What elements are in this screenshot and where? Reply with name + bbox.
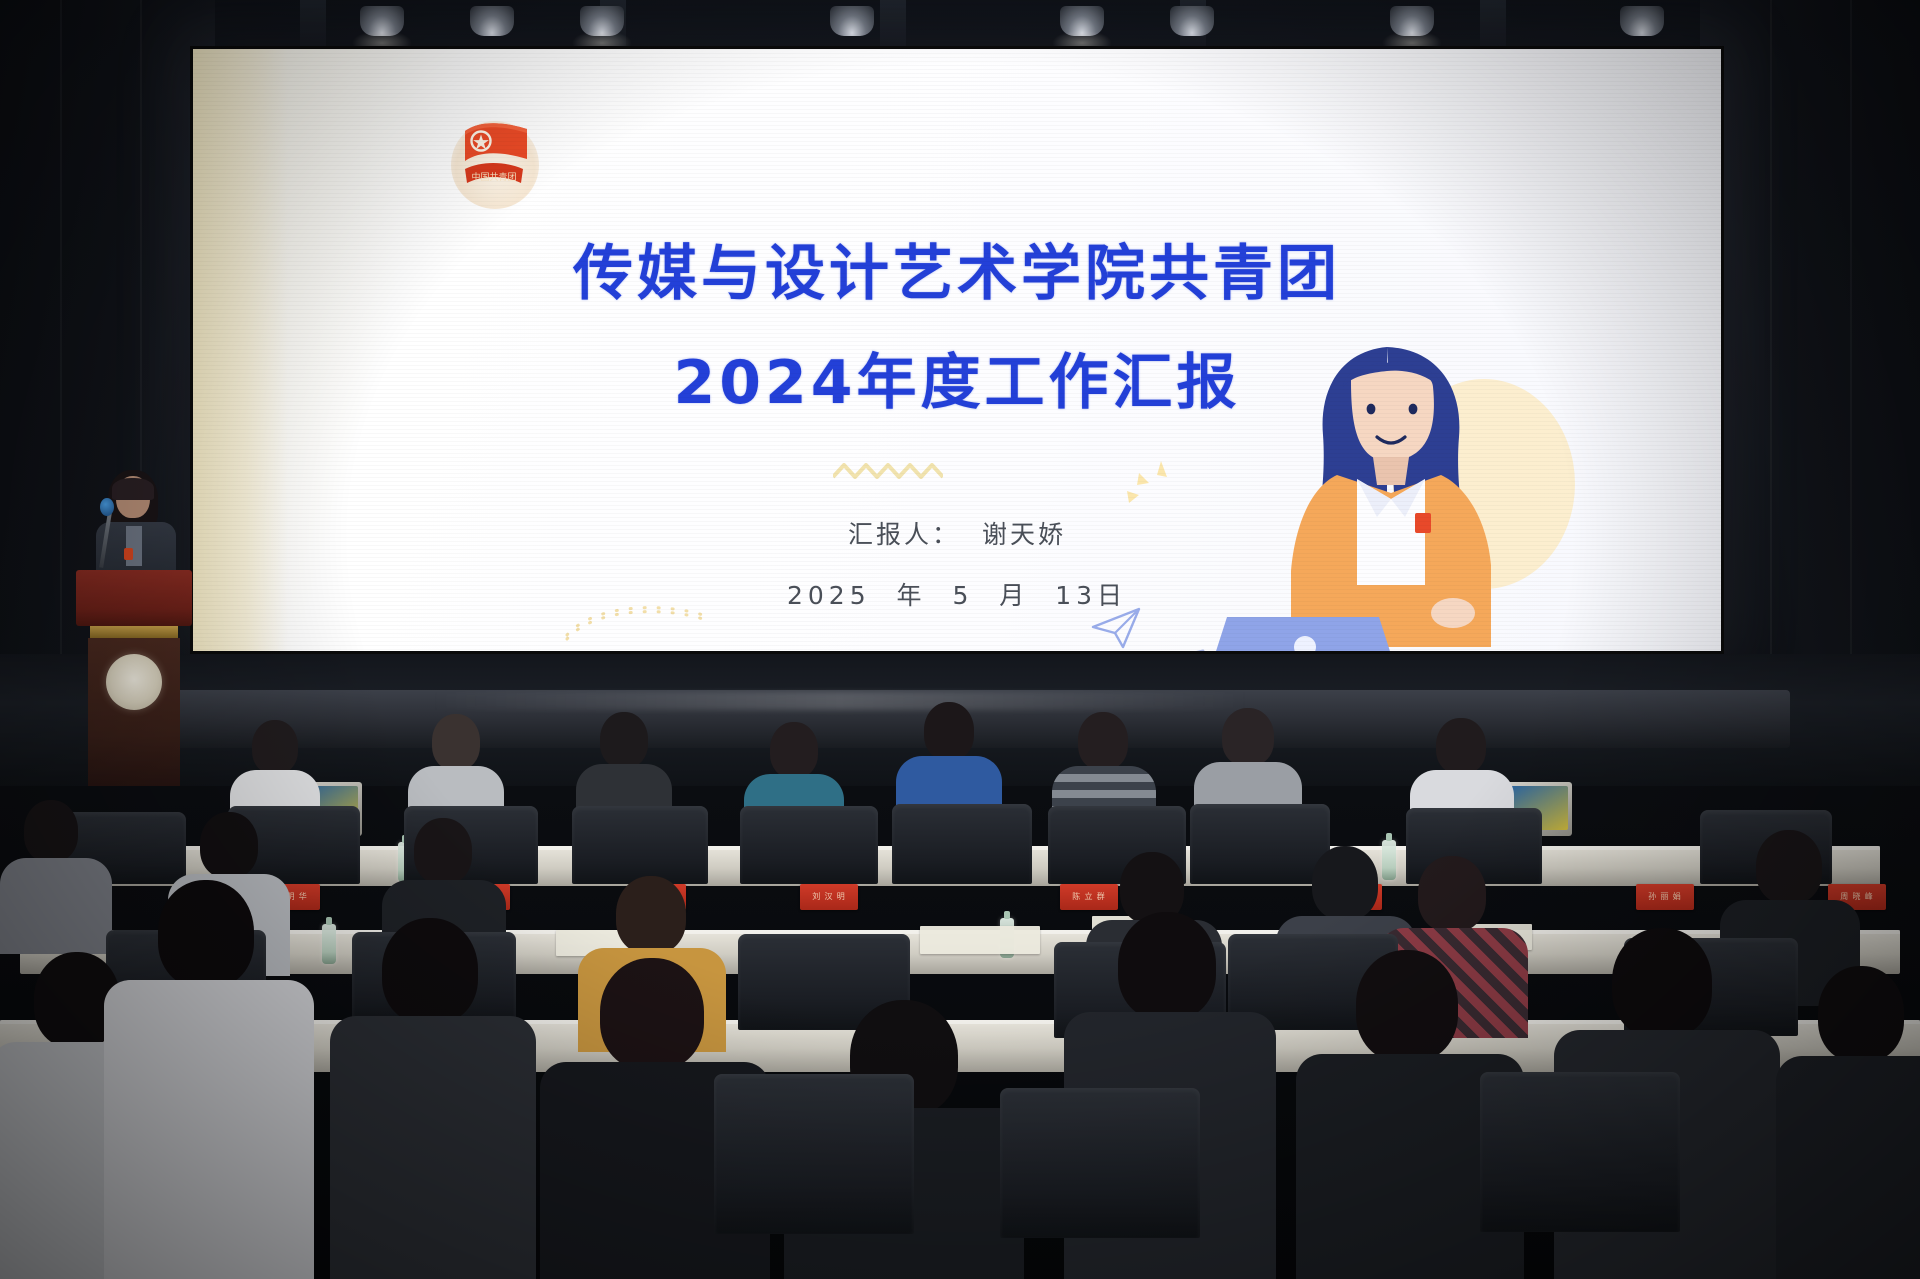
date-year-unit: 年 (897, 581, 927, 610)
table-namecard: 孙 丽 娟 (1636, 884, 1694, 910)
podium-gold-trim (90, 626, 178, 638)
ceiling-truss (1480, 0, 1506, 52)
university-seal (106, 654, 162, 710)
podium-speaker (78, 470, 190, 582)
date-year: 2025 (787, 581, 871, 610)
ceiling-spotlight (1170, 6, 1214, 36)
ceiling-spotlight (830, 6, 874, 36)
date-month: 5 (952, 581, 973, 610)
svg-text:中国共青团: 中国共青团 (471, 171, 516, 183)
audience-chair (1480, 1072, 1680, 1232)
document-sheet (920, 926, 1040, 954)
communist-youth-league-emblem: 中国共青团 (443, 107, 547, 211)
podium-desktop (76, 570, 192, 626)
slide-title-line1: 传媒与设计艺术学院共青团 (573, 239, 1341, 309)
zigzag-decoration (833, 461, 943, 483)
slide-presenter-line: 汇报人： 谢天娇 (193, 515, 1721, 551)
audience-member (0, 800, 112, 950)
presenter-name: 谢天娇 (982, 520, 1066, 549)
audience-member (330, 918, 536, 1279)
audience-member (104, 880, 314, 1279)
microphone-head (100, 498, 114, 516)
speaker-fringe (112, 478, 154, 500)
ceiling-truss (300, 0, 326, 52)
stage-highlight (430, 692, 1250, 710)
date-day: 13日 (1055, 581, 1127, 610)
sparkle-decoration (1123, 459, 1183, 507)
audience-chair (740, 806, 878, 884)
wooden-podium (76, 570, 192, 800)
slide-title: 传媒与设计艺术学院共青团 2024年度工作汇报 (193, 225, 1721, 421)
slide-title-line2: 2024年度工作汇报 (193, 334, 1721, 421)
audience-chair (572, 806, 708, 884)
auditorium-scene: 中国共青团 (0, 0, 1920, 1279)
slide-date-line: 2025 年 5 月 13日 (193, 576, 1721, 612)
ceiling-spotlight (1620, 6, 1664, 36)
audience-member (1776, 966, 1920, 1279)
speaker-badge (124, 548, 133, 560)
speaker-shirt (126, 526, 142, 566)
audience-chair (714, 1074, 914, 1234)
date-month-unit: 月 (999, 581, 1029, 610)
ceiling-truss (880, 0, 906, 52)
ceiling-spotlight (470, 6, 514, 36)
presentation-slide: 中国共青团 (193, 49, 1721, 651)
presenter-label: 汇报人： (848, 520, 960, 549)
led-screen: 中国共青团 (190, 46, 1724, 654)
audience-chair (892, 804, 1032, 884)
table-namecard: 刘 汉 明 (800, 884, 858, 910)
audience-chair (1000, 1088, 1200, 1238)
